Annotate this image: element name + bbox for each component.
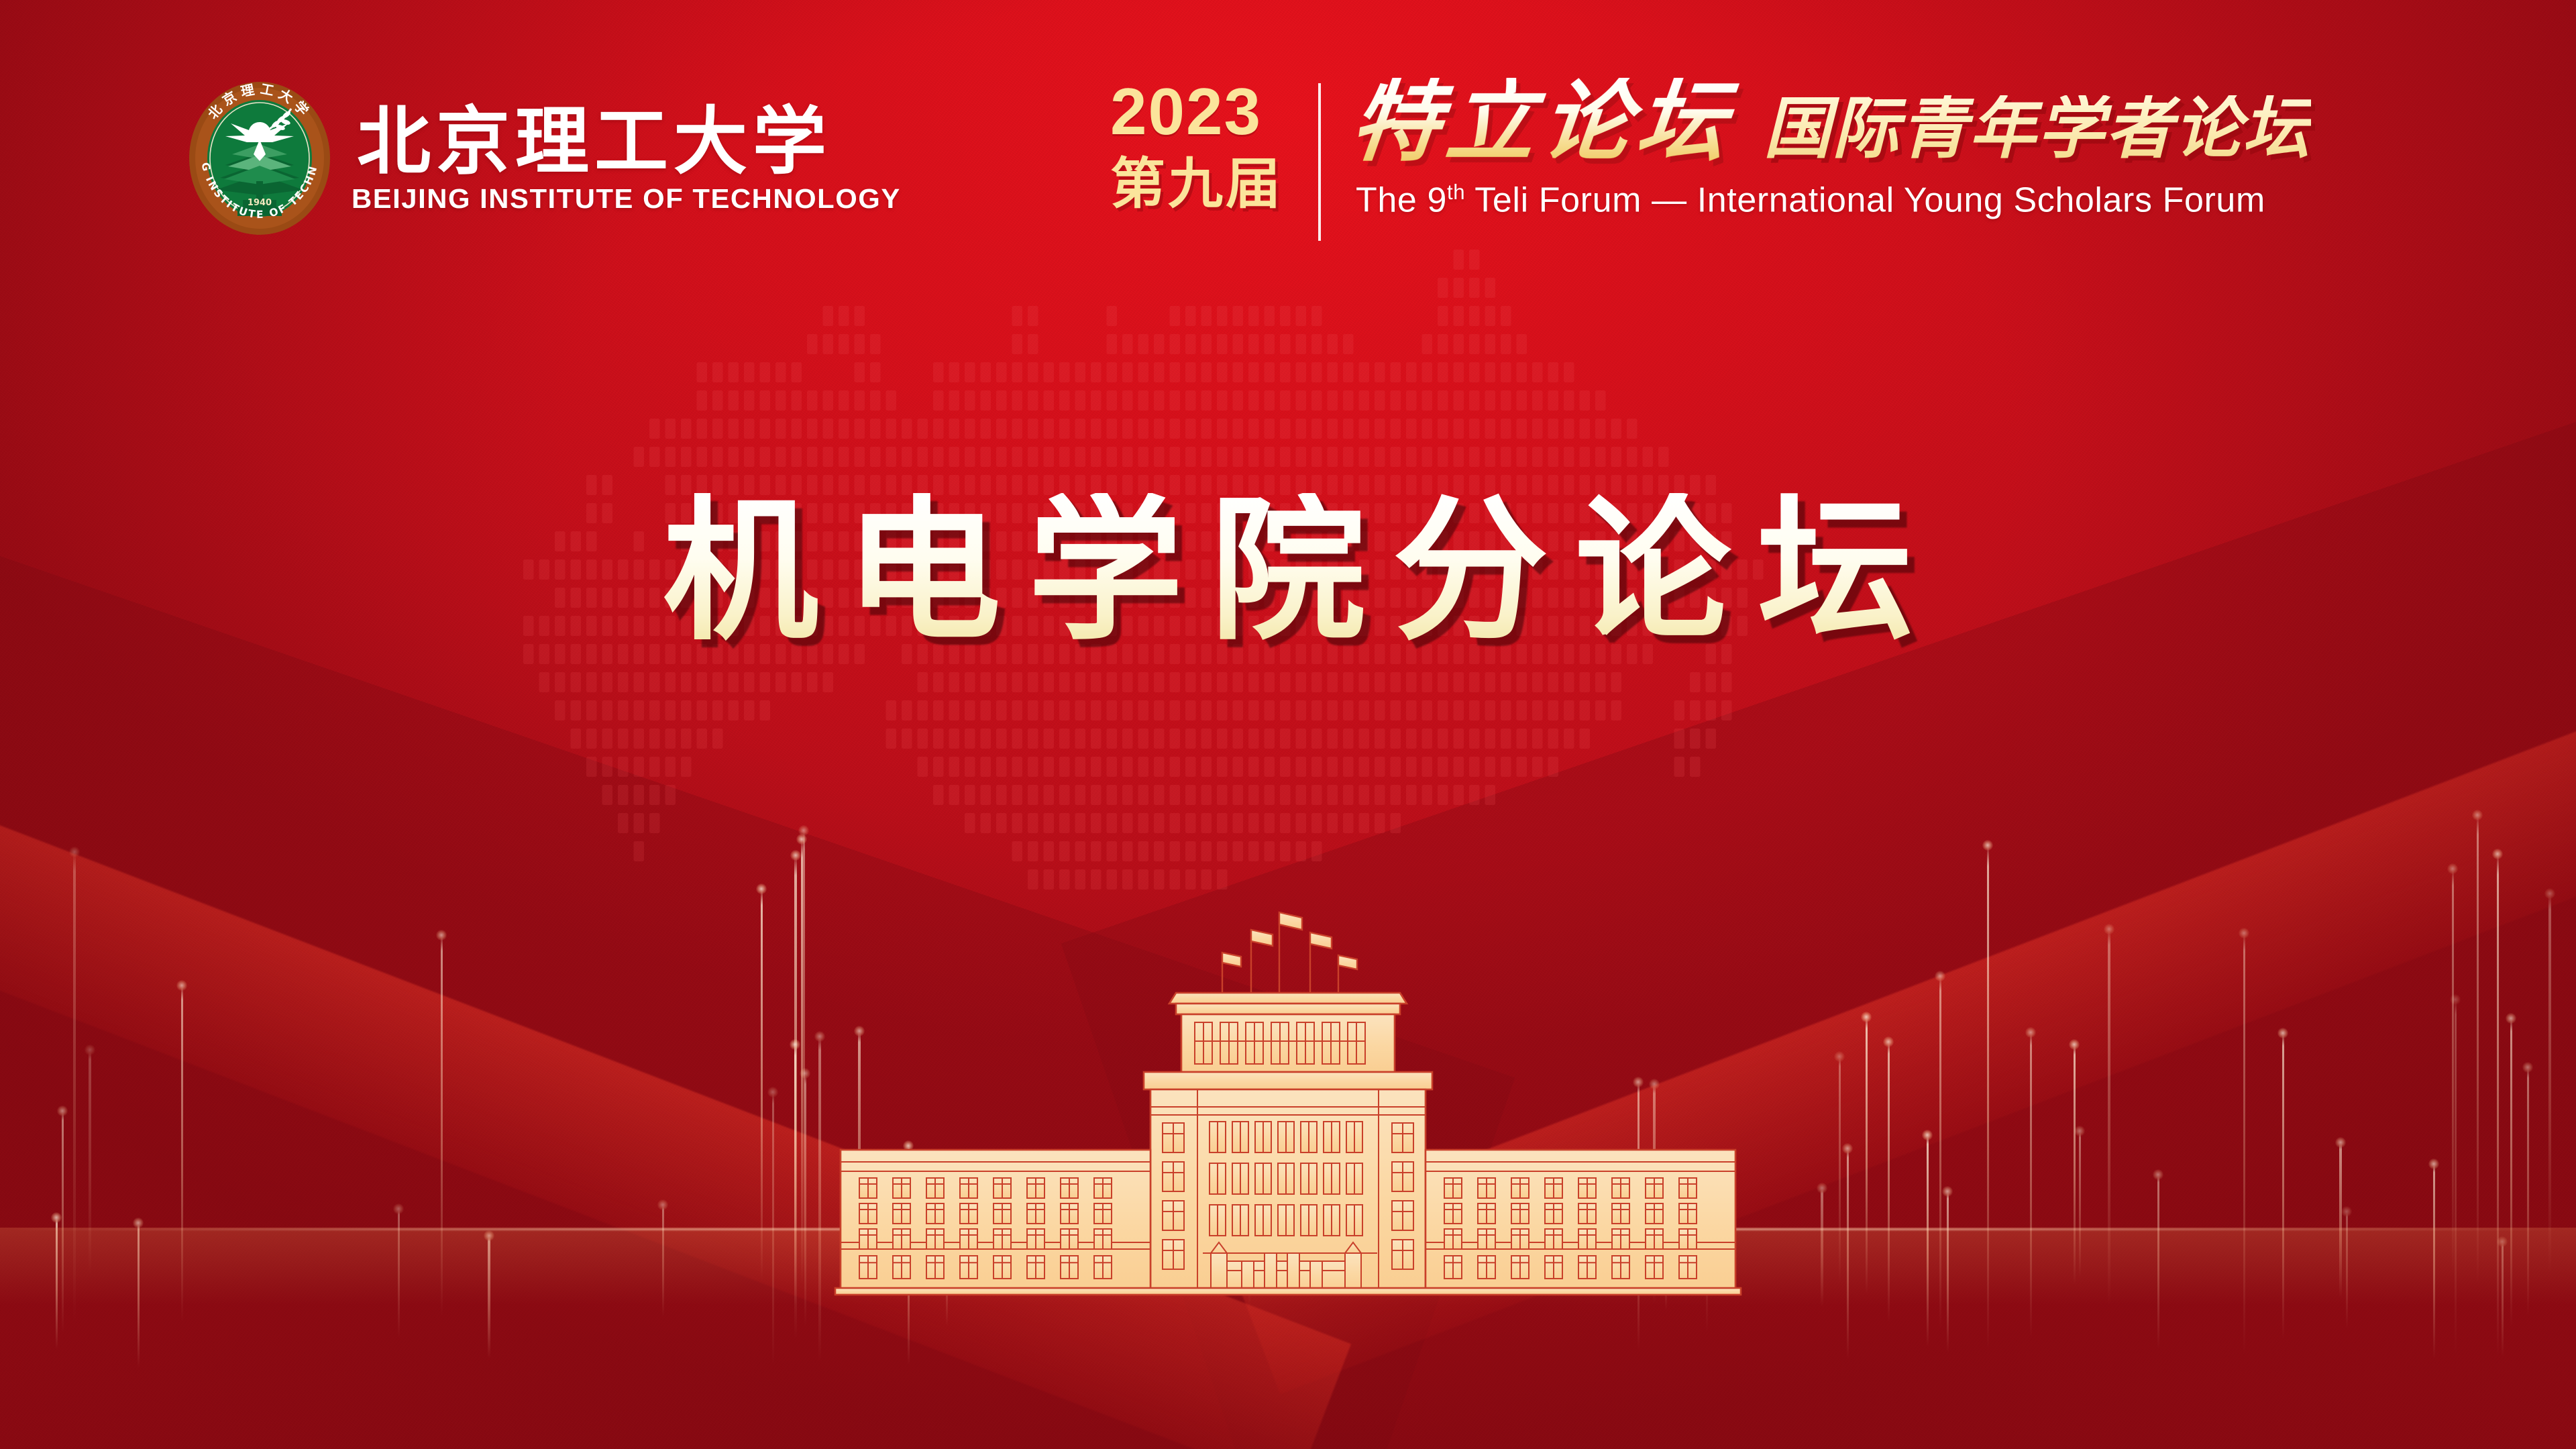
- bit-main-building-illustration: [808, 891, 1768, 1360]
- forum-title-en-rest: Teli Forum — International Young Scholar…: [1465, 180, 2265, 219]
- university-brand: 1940 北京理工大学 BEIJING INSTITUTE OF TECHNOL…: [186, 80, 896, 236]
- forum-edition: 第九届: [1110, 157, 1283, 212]
- forum-title-block: 特立论坛 国际青年学者论坛 The 9th Teli Forum — Inter…: [1352, 74, 2311, 220]
- university-name-en: BEIJING INSTITUTE OF TECHNOLOGY: [352, 185, 901, 213]
- university-name-cn: 北京理工大学: [357, 105, 896, 178]
- forum-year: 2023: [1110, 79, 1262, 144]
- forum-identity: 2023 第九届 特立论坛 国际青年学者论坛 The 9th Teli Foru…: [1110, 74, 2311, 241]
- svg-text:1940: 1940: [248, 198, 272, 208]
- forum-title-en-prefix: The 9: [1356, 180, 1447, 219]
- bit-seal-icon: 1940 北京理工大学 BEIJING INSTITUTE OF TECHNOL…: [186, 80, 333, 236]
- forum-year-block: 2023 第九届: [1110, 74, 1311, 212]
- banner-stage: 1940 北京理工大学 BEIJING INSTITUTE OF TECHNOL…: [0, 0, 2576, 1449]
- forum-title-en: The 9th Teli Forum — International Young…: [1356, 181, 2311, 220]
- banner-header: 1940 北京理工大学 BEIJING INSTITUTE OF TECHNOL…: [0, 0, 2576, 268]
- vertical-divider: [1318, 83, 1321, 241]
- university-name-block: 北京理工大学 BEIJING INSTITUTE OF TECHNOLOGY: [357, 105, 896, 213]
- forum-title-cn: 特立论坛: [1347, 78, 1748, 166]
- forum-subtitle-cn: 国际青年学者论坛: [1764, 95, 2311, 166]
- forum-title-en-ordinal: th: [1447, 180, 1465, 204]
- page-title: 机电学院分论坛: [0, 493, 2576, 649]
